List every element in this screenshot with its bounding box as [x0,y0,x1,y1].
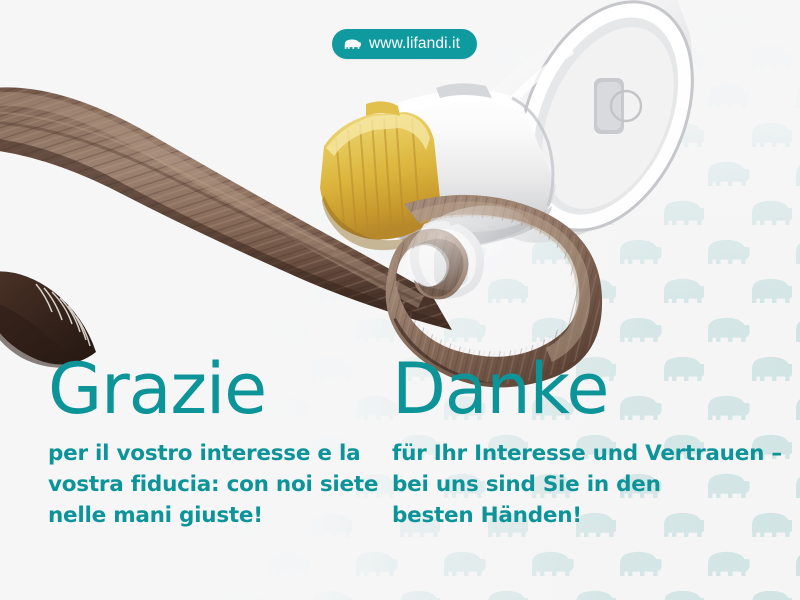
german-headline: Danke [392,352,792,426]
italian-column: Grazie per il vostro interesse e la vost… [48,352,378,531]
italian-body-line: nelle mani giuste! [48,500,378,531]
italian-body: per il vostro interesse e la vostra fidu… [48,438,378,531]
italian-body-line: per il vostro interesse e la [48,438,378,469]
german-body: für Ihr Interesse und Vertrauen – bei un… [392,438,792,531]
message-block: Grazie per il vostro interesse e la vost… [0,0,800,600]
website-url-text: www.lifandi.it [369,35,460,53]
elephant-logo-icon [344,37,361,51]
italian-headline: Grazie [48,352,378,426]
website-badge[interactable]: www.lifandi.it [332,29,477,59]
german-body-line: für Ihr Interesse und Vertrauen – [392,438,792,469]
banner-canvas: www.lifandi.it Grazie per il vostro inte… [0,0,800,600]
german-body-line: bei uns sind Sie in den [392,469,792,500]
german-body-line: besten Händen! [392,500,792,531]
german-column: Danke für Ihr Interesse und Vertrauen – … [392,352,792,531]
italian-body-line: vostra fiducia: con noi siete [48,469,378,500]
